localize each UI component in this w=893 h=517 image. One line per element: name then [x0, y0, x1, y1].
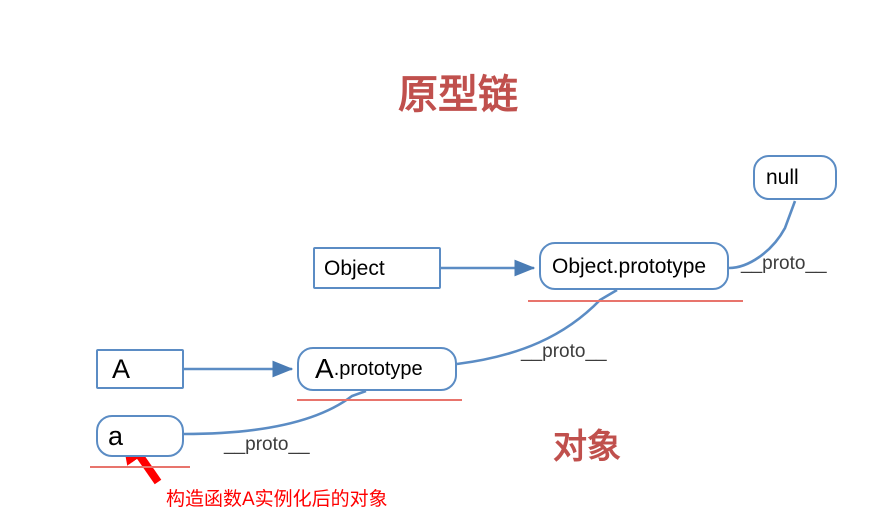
prototype-chain-diagram: 原型链 null Object Object.prototype __proto…	[0, 0, 893, 517]
annotation-caption: 构造函数A实例化后的对象	[166, 484, 388, 511]
node-a-prototype-label-suffix: .prototype	[334, 359, 423, 379]
underline-object-prototype	[528, 300, 743, 302]
node-a-constructor-label: A	[112, 356, 130, 383]
node-a-prototype[interactable]: A .prototype	[297, 347, 457, 391]
edge-label-object-proto: __proto__	[521, 341, 607, 363]
node-null[interactable]: null	[753, 155, 837, 200]
node-a-prototype-label-main: A	[315, 355, 334, 383]
node-object-label: Object	[324, 258, 385, 279]
underline-a-prototype	[297, 399, 462, 401]
page-title: 原型链	[398, 62, 518, 120]
node-object-prototype[interactable]: Object.prototype	[539, 242, 729, 290]
edge-a-instance-to-a-prototype	[184, 391, 366, 434]
node-a-constructor[interactable]: A	[96, 349, 184, 389]
edge-label-null-proto: __proto__	[741, 253, 827, 275]
node-a-instance[interactable]: a	[96, 415, 184, 457]
node-object-prototype-label: Object.prototype	[552, 256, 706, 277]
accent-label-object: 对象	[553, 419, 621, 468]
node-object[interactable]: Object	[313, 247, 441, 289]
edge-label-instance-proto: __proto__	[224, 434, 310, 456]
underline-a-instance	[90, 466, 190, 468]
node-null-label: null	[766, 167, 799, 188]
node-a-instance-label: a	[108, 423, 123, 450]
